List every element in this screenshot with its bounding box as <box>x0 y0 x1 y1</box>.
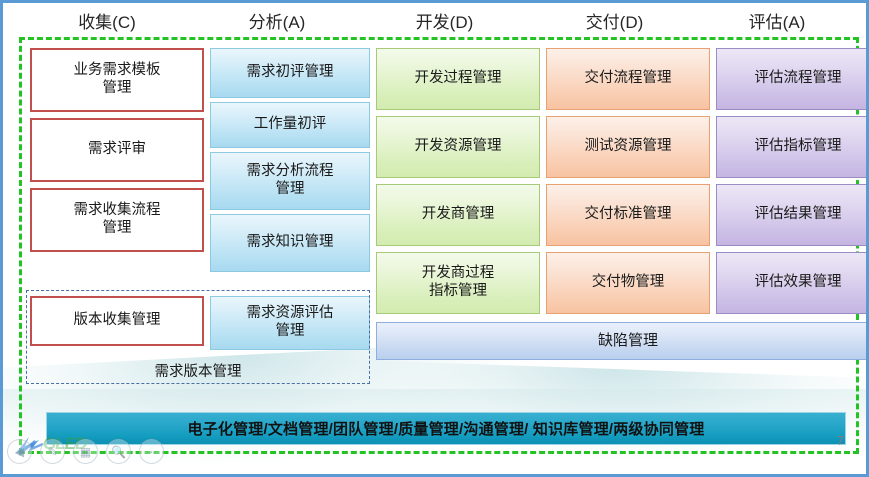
card-developer-management[interactable]: 开发商管理 <box>376 184 540 246</box>
card-defect-management[interactable]: 缺陷管理 <box>376 322 869 360</box>
column-header-collect: 收集(C) <box>17 8 197 40</box>
card-test-resource[interactable]: 测试资源管理 <box>546 116 710 178</box>
card-assessment-process[interactable]: 评估流程管理 <box>716 48 869 110</box>
presentation-toolbar[interactable]: ◀ ✎ ▦ 🔍 ⋯ <box>7 439 164 464</box>
card-deliverable-management[interactable]: 交付物管理 <box>546 252 710 314</box>
card-requirement-analysis-process[interactable]: 需求分析流程 管理 <box>210 152 370 210</box>
card-requirement-collection-process[interactable]: 需求收集流程 管理 <box>30 188 204 252</box>
card-delivery-standard[interactable]: 交付标准管理 <box>546 184 710 246</box>
requirement-version-group: 需求版本管理 <box>26 290 370 384</box>
lifecycle-dashed-container: 业务需求模板 管理 需求评审 需求收集流程 管理 版本收集管理 需求初评管理 工… <box>19 37 859 454</box>
foundation-capability-bar[interactable]: 电子化管理/文档管理/团队管理/质量管理/沟通管理/ 知识库管理/两级协同管理 <box>46 412 846 445</box>
card-development-process[interactable]: 开发过程管理 <box>376 48 540 110</box>
column-header-analyze: 分析(A) <box>197 8 357 40</box>
more-options-icon[interactable]: ⋯ <box>139 439 164 464</box>
column-header-assess: 评估(A) <box>697 8 857 40</box>
card-developer-process-metrics[interactable]: 开发商过程 指标管理 <box>376 252 540 314</box>
column-header-develop: 开发(D) <box>357 8 532 40</box>
column-header-row: 收集(C) 分析(A) 开发(D) 交付(D) 评估(A) <box>17 8 862 40</box>
zoom-magnifier-icon[interactable]: 🔍 <box>106 439 131 464</box>
card-requirement-knowledge[interactable]: 需求知识管理 <box>210 214 370 272</box>
card-assessment-effect[interactable]: 评估效果管理 <box>716 252 869 314</box>
pen-annotation-icon[interactable]: ✎ <box>40 439 65 464</box>
card-workload-estimate[interactable]: 工作量初评 <box>210 102 370 148</box>
card-development-resource[interactable]: 开发资源管理 <box>376 116 540 178</box>
card-requirement-initial-review[interactable]: 需求初评管理 <box>210 48 370 98</box>
slide-grid-icon[interactable]: ▦ <box>73 439 98 464</box>
previous-slide-icon[interactable]: ◀ <box>7 439 32 464</box>
card-assessment-metrics[interactable]: 评估指标管理 <box>716 116 869 178</box>
requirement-version-group-label: 需求版本管理 <box>27 360 369 381</box>
card-assessment-result[interactable]: 评估结果管理 <box>716 184 869 246</box>
card-requirement-review[interactable]: 需求评审 <box>30 118 204 182</box>
slide-canvas: 收集(C) 分析(A) 开发(D) 交付(D) 评估(A) 业务需求模板 管理 … <box>0 0 869 477</box>
column-header-deliver: 交付(D) <box>532 8 697 40</box>
card-delivery-process[interactable]: 交付流程管理 <box>546 48 710 110</box>
page-number: 7 <box>837 433 844 448</box>
card-business-requirement-template[interactable]: 业务需求模板 管理 <box>30 48 204 112</box>
